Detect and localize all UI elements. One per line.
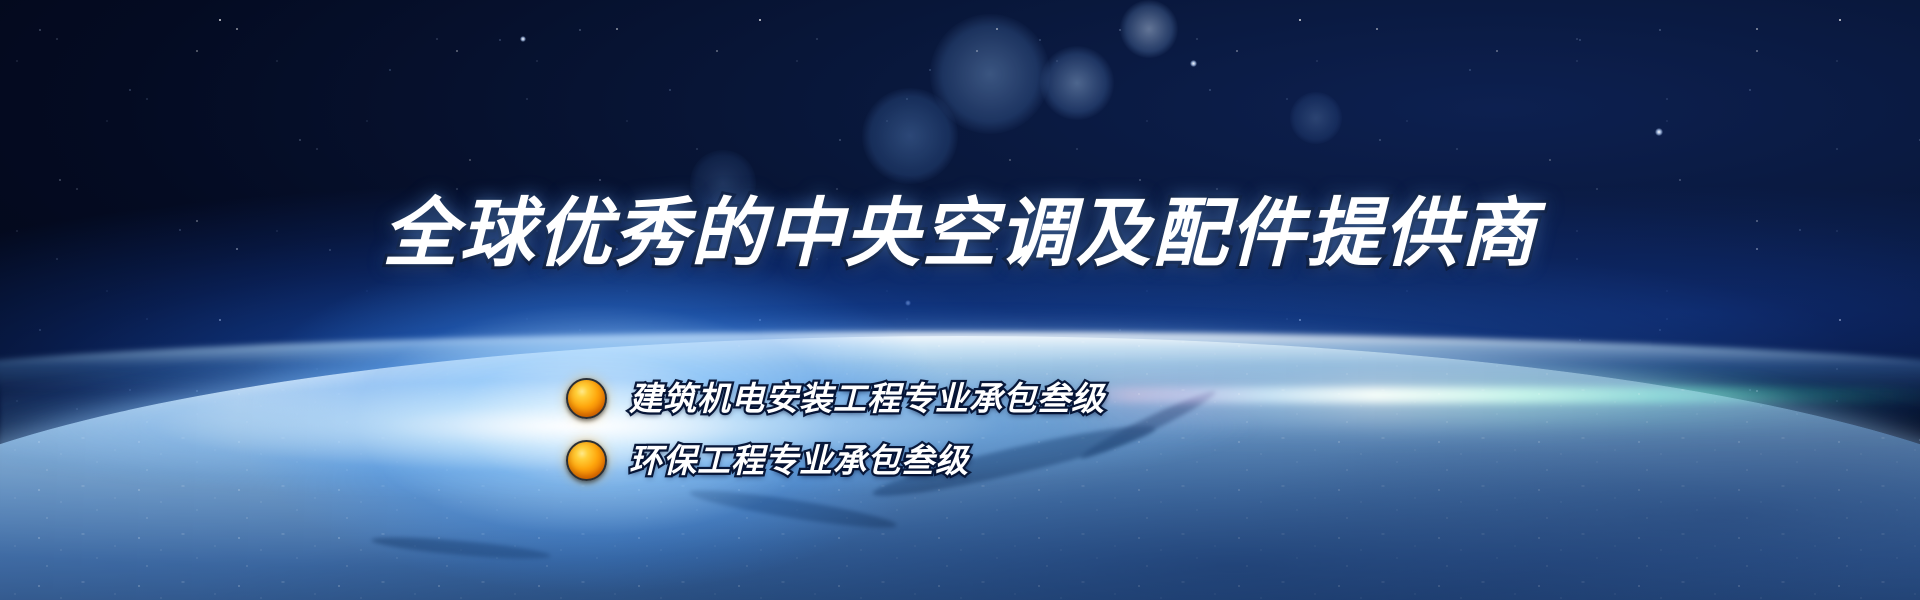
bullet-item-2: 环保工程专业承包叁级 bbox=[566, 440, 1105, 481]
banner-bullet-list: 建筑机电安装工程专业承包叁级 环保工程专业承包叁级 bbox=[566, 378, 1105, 481]
orange-dot-icon bbox=[566, 378, 607, 419]
banner-headline: 全球优秀的中央空调及配件提供商 bbox=[0, 196, 1920, 271]
orange-dot-icon bbox=[566, 440, 607, 481]
bullet-item-2-label: 环保工程专业承包叁级 bbox=[629, 444, 969, 477]
bullet-item-1: 建筑机电安装工程专业承包叁级 bbox=[566, 378, 1105, 419]
hero-banner: 全球优秀的中央空调及配件提供商 建筑机电安装工程专业承包叁级 环保工程专业承包叁… bbox=[0, 0, 1920, 600]
bullet-item-1-label: 建筑机电安装工程专业承包叁级 bbox=[629, 382, 1105, 415]
banner-content: 全球优秀的中央空调及配件提供商 建筑机电安装工程专业承包叁级 环保工程专业承包叁… bbox=[0, 0, 1920, 600]
